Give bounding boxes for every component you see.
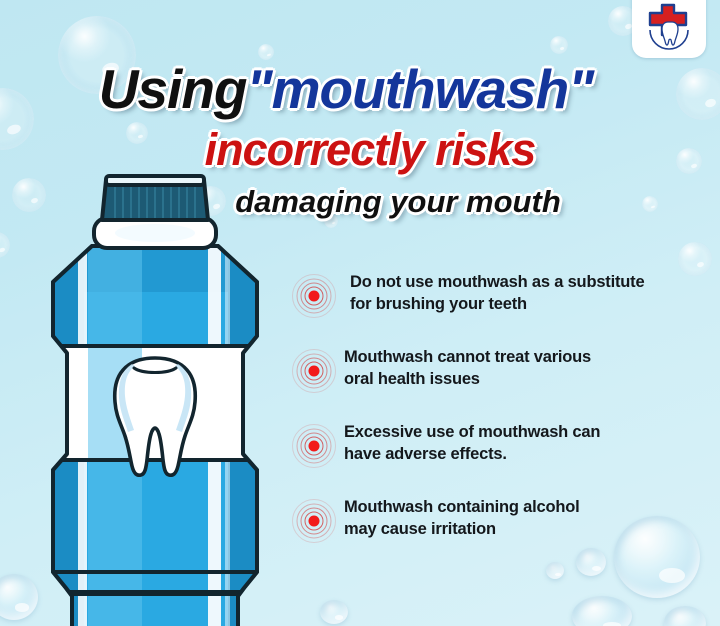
list-item-text: Mouthwash cannot treat various oral heal… [344,347,712,391]
background-bubble [0,232,10,258]
background-bubble [550,36,568,54]
list-item: Mouthwash cannot treat various oral heal… [292,347,712,422]
list-item-text: Excessive use of mouthwash can have adve… [344,422,712,466]
headline-line-1: Using"mouthwash" [0,62,700,117]
list-item-line-2: oral health issues [344,369,712,391]
mouthwash-bottle [22,172,288,626]
list-item-line-2: for brushing your teeth [350,294,712,316]
bullet-marker-icon [292,349,336,393]
dental-cross-tooth-icon [642,0,696,54]
list-item-line-1: Excessive use of mouthwash can [344,423,600,441]
bullet-marker-icon [292,424,336,468]
list-item: Mouthwash containing alcohol may cause i… [292,497,712,572]
list-item-line-2: have adverse effects. [344,444,712,466]
list-item-text: Mouthwash containing alcohol may cause i… [344,497,712,541]
bullet-marker-icon [292,499,336,543]
headline-line-2: incorrectly risks [40,127,700,172]
risk-bullet-list: Do not use mouthwash as a substitute for… [292,272,712,572]
list-item-line-1: Do not use mouthwash as a substitute [350,273,644,291]
bullet-marker-icon [292,274,336,318]
list-item-text: Do not use mouthwash as a substitute for… [350,272,712,316]
list-item-line-2: may cause irritation [344,519,712,541]
list-item-line-1: Mouthwash cannot treat various [344,348,591,366]
headline-word-mouthwash: "mouthwash" [247,58,594,120]
list-item: Do not use mouthwash as a substitute for… [292,272,712,347]
headline-word-using: Using [99,58,247,120]
water-droplet [572,596,632,626]
water-droplet [664,606,706,626]
list-item-line-1: Mouthwash containing alcohol [344,498,579,516]
background-bubble [678,242,712,276]
mouthwash-bottle-illustration [22,172,288,626]
infographic-poster: Using"mouthwash" incorrectly risks damag… [0,0,720,626]
clinic-logo-badge [632,0,706,58]
list-item: Excessive use of mouthwash can have adve… [292,422,712,497]
water-droplet [320,600,348,624]
